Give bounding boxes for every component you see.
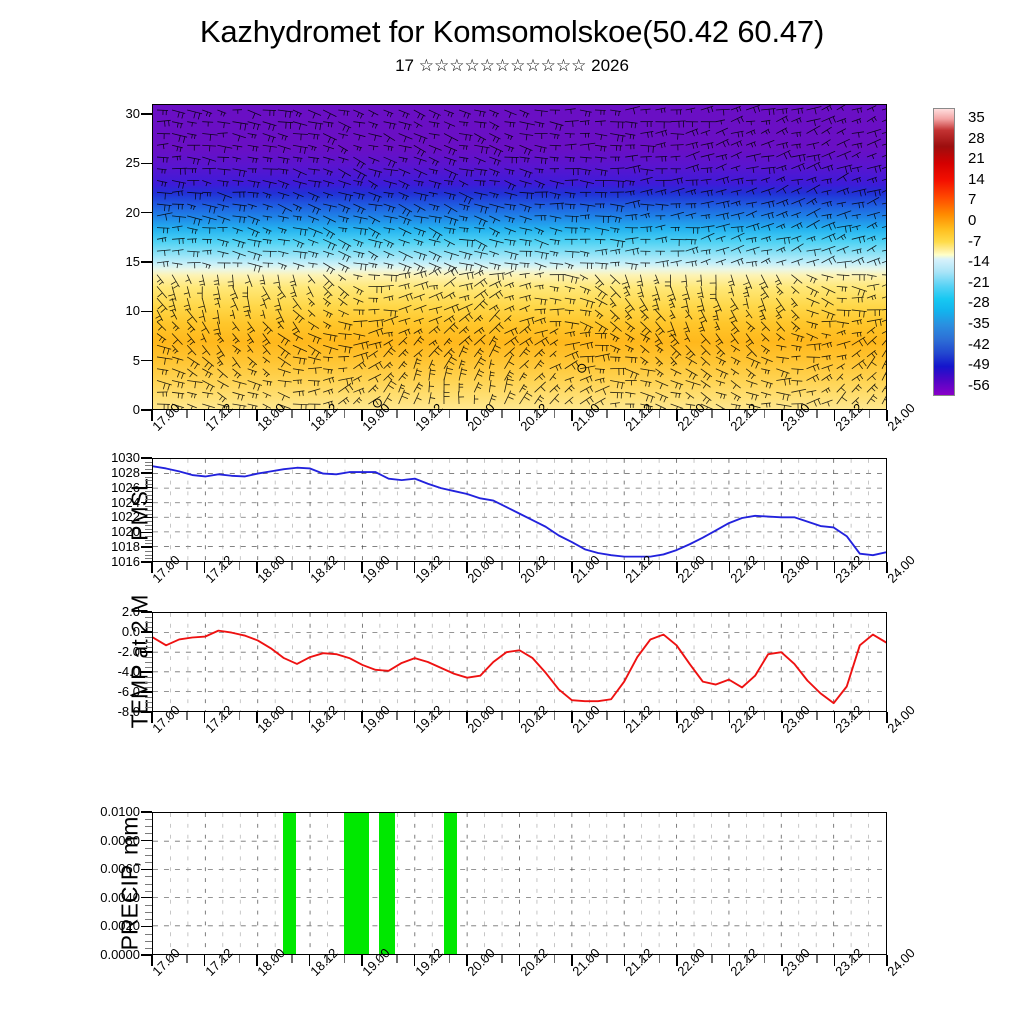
x-minor-tick [799,410,800,418]
y-minor-tick [145,529,152,530]
y-minor-tick [145,491,152,492]
precip-bar [379,812,395,954]
y-minor-tick [145,819,152,820]
y-minor-tick [145,905,152,906]
y-tick-label: 0.0060 [88,862,140,875]
y-tick-mark [141,487,152,488]
x-minor-tick [554,562,555,570]
x-minor-tick [221,955,222,963]
precip-bar [444,812,457,954]
x-minor-tick [869,410,870,418]
x-minor-tick [326,712,327,720]
subtitle-year: 2026 [591,56,629,75]
y-minor-tick [145,687,152,688]
x-minor-tick [239,410,240,418]
y-minor-tick [145,480,152,481]
x-minor-tick [816,955,817,963]
x-minor-tick [659,562,660,570]
y-tick-mark [141,502,152,503]
x-minor-tick [641,410,642,418]
y-tick-mark [141,651,152,652]
x-minor-tick [221,712,222,720]
x-minor-tick [694,712,695,720]
x-tick-label: 24.00 [885,401,918,434]
x-minor-tick [746,712,747,720]
x-minor-tick [344,955,345,963]
x-minor-tick [869,712,870,720]
y-tick-label: -6.0 [88,685,140,698]
x-minor-tick [606,562,607,570]
y-tick-mark [141,360,152,361]
x-minor-tick [641,562,642,570]
x-minor-tick [484,562,485,570]
colorbar-tick-label: 7 [968,192,976,207]
y-minor-tick [145,495,152,496]
x-minor-tick [589,562,590,570]
y-tick-mark [141,691,152,692]
x-minor-tick [449,712,450,720]
x-minor-tick [746,410,747,418]
x-minor-tick [186,410,187,418]
y-minor-tick [145,525,152,526]
colorbar-tick-label: -14 [968,254,990,269]
y-minor-tick [145,826,152,827]
y-tick-mark [141,897,152,898]
y-tick-mark [141,869,152,870]
x-minor-tick [501,410,502,418]
y-minor-tick [145,465,152,466]
y-tick-label: -8.0 [88,705,140,718]
y-minor-tick [145,622,152,623]
y-tick-mark [141,631,152,632]
precip-bar [344,812,368,954]
y-minor-tick [145,884,152,885]
x-minor-tick [851,712,852,720]
precip-grid [153,813,886,954]
x-minor-tick [606,712,607,720]
y-tick-mark [141,457,152,458]
cross-section-wind-barbs [153,105,886,409]
y-minor-tick [145,469,152,470]
x-minor-tick [449,955,450,963]
x-minor-tick [869,955,870,963]
y-minor-tick [145,862,152,863]
y-tick-label: 1022 [88,510,140,523]
x-minor-tick [554,712,555,720]
y-minor-tick [145,642,152,643]
x-minor-tick [816,562,817,570]
x-minor-tick [536,562,537,570]
y-tick-label: 1028 [88,466,140,479]
x-minor-tick [379,712,380,720]
y-minor-tick [145,462,152,463]
x-minor-tick [344,562,345,570]
x-minor-tick [694,410,695,418]
y-minor-tick [145,514,152,515]
temp-line-series [153,613,886,711]
x-minor-tick [606,955,607,963]
y-tick-label: 0.0000 [88,948,140,961]
x-minor-tick [431,712,432,720]
x-minor-tick [186,955,187,963]
y-tick-label: 2.0 [88,605,140,618]
subtitle-month-glyphs: ☆☆☆☆☆☆☆☆☆☆☆ [419,56,587,76]
x-minor-tick [851,410,852,418]
x-minor-tick [239,562,240,570]
y-tick-label: 1030 [88,451,140,464]
y-tick-label: 1026 [88,481,140,494]
x-minor-tick [291,562,292,570]
y-minor-tick [145,833,152,834]
y-minor-tick [145,682,152,683]
x-minor-tick [589,712,590,720]
y-tick-label: 30 [88,107,140,120]
colorbar-tick-label: -49 [968,357,990,372]
x-minor-tick [396,562,397,570]
y-tick-label: 0.0100 [88,805,140,818]
x-minor-tick [326,562,327,570]
x-minor-tick [764,955,765,963]
y-tick-mark [141,840,152,841]
x-minor-tick [291,410,292,418]
y-minor-tick [145,484,152,485]
y-tick-mark [141,517,152,518]
colorbar-tick-label: -35 [968,316,990,331]
x-minor-tick [449,562,450,570]
x-minor-tick [799,955,800,963]
x-minor-tick [274,410,275,418]
x-minor-tick [484,410,485,418]
y-minor-tick [145,948,152,949]
y-minor-tick [145,637,152,638]
x-minor-tick [291,712,292,720]
x-minor-tick [816,712,817,720]
x-minor-tick [169,410,170,418]
x-minor-tick [641,955,642,963]
y-minor-tick [145,702,152,703]
x-minor-tick [799,712,800,720]
y-tick-label: -2.0 [88,645,140,658]
precip-bar [283,812,296,954]
x-minor-tick [659,712,660,720]
pmsl-plot[interactable] [152,458,887,562]
x-minor-tick [449,410,450,418]
colorbar-tick-label: 28 [968,131,985,146]
x-minor-tick [659,955,660,963]
x-minor-tick [694,955,695,963]
x-minor-tick [746,955,747,963]
y-tick-mark [141,261,152,262]
y-tick-label: 0.0 [88,625,140,638]
y-minor-tick [145,707,152,708]
precip-axis-label: PRECIP, mm [117,753,144,1013]
x-minor-tick [274,562,275,570]
y-minor-tick [145,848,152,849]
colorbar-tick-label: -7 [968,234,981,249]
y-tick-mark [141,311,152,312]
page-title: Kazhydromet for Komsomolskoe(50.42 60.47… [0,14,1024,50]
x-minor-tick [501,955,502,963]
x-minor-tick [169,562,170,570]
y-minor-tick [145,912,152,913]
temp-plot[interactable] [152,612,887,712]
x-tick-label: 24.00 [885,553,918,586]
y-tick-mark [141,113,152,114]
y-minor-tick [145,667,152,668]
y-minor-tick [145,647,152,648]
x-minor-tick [186,562,187,570]
x-minor-tick [711,955,712,963]
y-tick-mark [141,926,152,927]
colorbar-tick-label: 14 [968,172,985,187]
x-minor-tick [484,955,485,963]
y-minor-tick [145,510,152,511]
subtitle-day: 17 [395,56,414,75]
x-minor-tick [221,562,222,570]
y-minor-tick [145,855,152,856]
y-minor-tick [145,919,152,920]
x-minor-tick [501,562,502,570]
x-minor-tick [536,712,537,720]
colorbar-tick-label: 21 [968,151,985,166]
x-minor-tick [851,562,852,570]
y-minor-tick [145,627,152,628]
y-minor-tick [145,657,152,658]
x-minor-tick [816,410,817,418]
y-tick-label: 0.0020 [88,919,140,932]
y-tick-mark [141,212,152,213]
y-tick-mark [141,163,152,164]
y-tick-label: 0.0080 [88,834,140,847]
colorbar-tick-label: -42 [968,337,990,352]
y-tick-mark [141,671,152,672]
x-minor-tick [396,712,397,720]
pmsl-line-series [153,459,886,561]
y-minor-tick [145,891,152,892]
x-minor-tick [764,410,765,418]
title-block: Kazhydromet for Komsomolskoe(50.42 60.47… [0,14,1024,78]
x-minor-tick [641,712,642,720]
colorbar-tick-label: -28 [968,295,990,310]
x-minor-tick [431,410,432,418]
y-minor-tick [145,677,152,678]
page-subtitle: 17 ☆☆☆☆☆☆☆☆☆☆☆ 2026 [0,54,1024,78]
x-minor-tick [799,562,800,570]
y-tick-mark [141,811,152,812]
y-tick-label: 20 [88,206,140,219]
y-tick-label: 15 [88,255,140,268]
y-tick-label: 25 [88,156,140,169]
x-minor-tick [764,712,765,720]
y-minor-tick [145,876,152,877]
y-minor-tick [145,506,152,507]
x-minor-tick [711,562,712,570]
x-minor-tick [431,955,432,963]
x-minor-tick [711,712,712,720]
x-minor-tick [851,955,852,963]
y-tick-label: 1024 [88,496,140,509]
x-minor-tick [396,955,397,963]
y-tick-mark [141,611,152,612]
x-minor-tick [274,712,275,720]
x-minor-tick [396,410,397,418]
y-tick-label: 5 [88,354,140,367]
x-minor-tick [239,955,240,963]
x-minor-tick [221,410,222,418]
x-minor-tick [589,955,590,963]
colorbar-tick-label: 0 [968,213,976,228]
colorbar-tick-label: 35 [968,110,985,125]
x-minor-tick [869,562,870,570]
x-minor-tick [764,562,765,570]
x-minor-tick [169,955,170,963]
y-tick-label: 0.0040 [88,891,140,904]
x-minor-tick [431,562,432,570]
y-minor-tick [145,697,152,698]
y-tick-mark [141,472,152,473]
x-minor-tick [606,410,607,418]
y-minor-tick [145,662,152,663]
x-minor-tick [589,410,590,418]
x-minor-tick [274,955,275,963]
x-minor-tick [536,410,537,418]
x-minor-tick [169,712,170,720]
y-tick-label: -4.0 [88,665,140,678]
x-minor-tick [659,410,660,418]
x-minor-tick [554,955,555,963]
x-minor-tick [379,562,380,570]
x-minor-tick [554,410,555,418]
x-minor-tick [186,712,187,720]
x-minor-tick [326,955,327,963]
x-minor-tick [344,410,345,418]
x-minor-tick [536,955,537,963]
y-minor-tick [145,934,152,935]
x-tick-label: 24.00 [885,946,918,979]
x-minor-tick [326,410,327,418]
y-tick-label: 10 [88,304,140,317]
cross-section-plot[interactable] [152,104,887,410]
colorbar-tick-label: -21 [968,275,990,290]
y-minor-tick [145,941,152,942]
colorbar-gradient [934,109,954,395]
x-minor-tick [746,562,747,570]
x-minor-tick [291,955,292,963]
x-minor-tick [484,712,485,720]
x-minor-tick [239,712,240,720]
x-minor-tick [379,410,380,418]
temperature-colorbar[interactable] [933,108,955,396]
y-minor-tick [145,521,152,522]
y-minor-tick [145,499,152,500]
x-minor-tick [501,712,502,720]
x-minor-tick [711,410,712,418]
x-minor-tick [694,562,695,570]
x-tick-label: 24.00 [885,703,918,736]
x-minor-tick [344,712,345,720]
y-minor-tick [145,477,152,478]
colorbar-tick-label: -56 [968,378,990,393]
x-minor-tick [379,955,380,963]
precip-plot[interactable] [152,812,887,955]
y-minor-tick [145,617,152,618]
